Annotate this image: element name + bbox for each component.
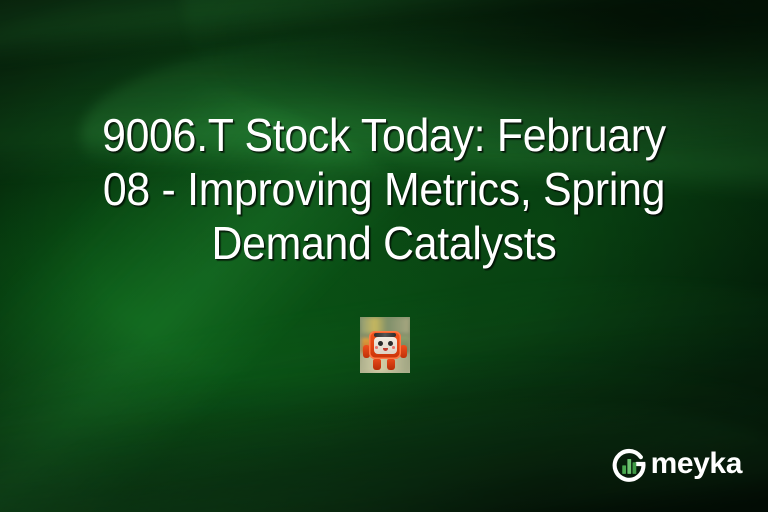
title-line-1: 9006.T Stock Today: February	[55, 108, 713, 162]
title-line-2: 08 - Improving Metrics, Spring	[55, 162, 713, 216]
robot-head	[369, 331, 401, 359]
robot-mouth	[383, 348, 388, 351]
banner-canvas: 9006.T Stock Today: February 08 - Improv…	[0, 0, 768, 512]
robot-eye-left	[378, 341, 383, 346]
robot-leg-right	[387, 359, 395, 370]
robot-cheek-right	[392, 346, 395, 349]
bar-chart-circle-icon	[611, 446, 647, 482]
robot-face	[374, 337, 397, 354]
robot-leg-left	[373, 359, 381, 370]
robot-arm-right	[400, 345, 407, 358]
thumbnail-photo	[360, 317, 410, 373]
brand-name: meyka	[651, 449, 742, 479]
title-line-3: Demand Catalysts	[55, 216, 713, 270]
article-thumbnail	[360, 317, 410, 373]
robot-cheek-left	[375, 346, 378, 349]
robot-visor	[374, 333, 396, 337]
brand-logo[interactable]: meyka	[611, 446, 742, 482]
banner-title: 9006.T Stock Today: February 08 - Improv…	[0, 108, 768, 270]
